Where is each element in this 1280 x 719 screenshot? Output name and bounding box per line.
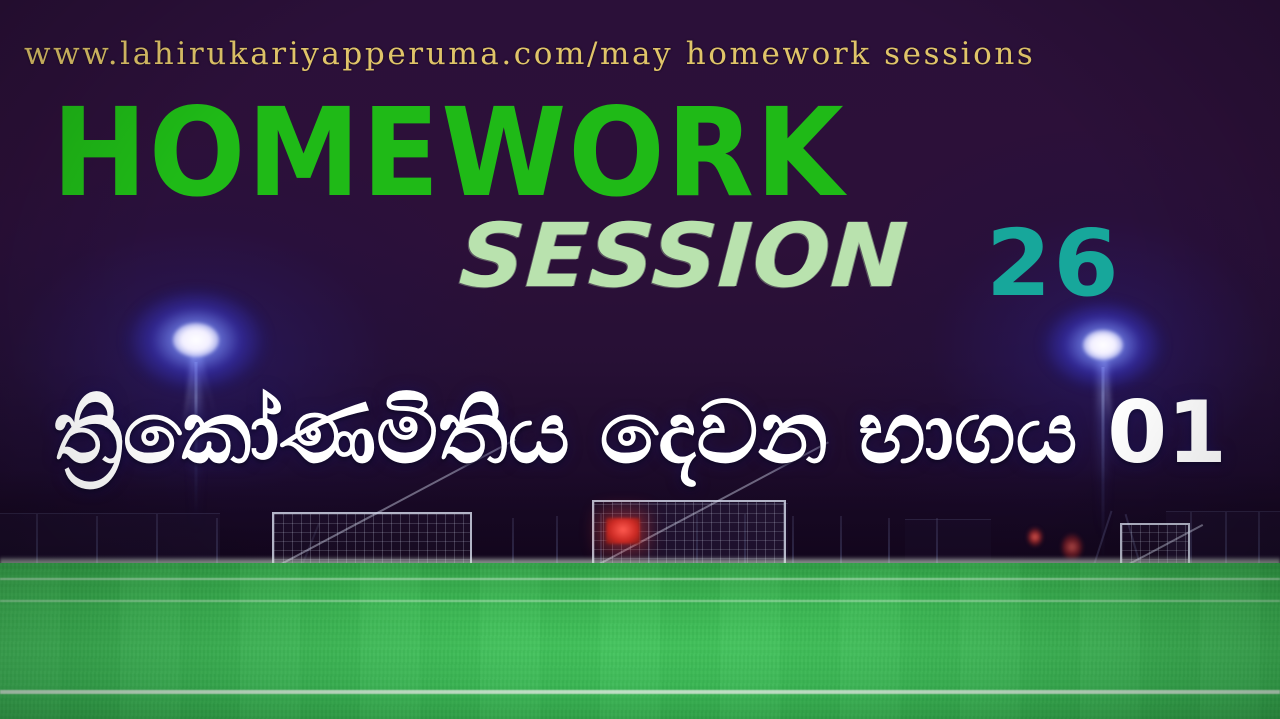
pitch-line-far bbox=[0, 578, 1280, 580]
red-scoreboard-sign bbox=[606, 518, 640, 544]
title-session: SESSION bbox=[457, 212, 910, 300]
subtitle-sinhala-text: ත්‍රිකෝණමිතිය දෙවන භාගය 01 bbox=[53, 385, 1227, 481]
homework-session-banner: www.lahirukariyapperuma.com/may homework… bbox=[0, 0, 1280, 719]
football-pitch bbox=[0, 563, 1280, 719]
title-homework: HOMEWORK bbox=[52, 92, 846, 214]
stand-right-2 bbox=[905, 519, 991, 560]
website-url-text: www.lahirukariyapperuma.com/may homework… bbox=[24, 36, 1035, 72]
session-number: 26 bbox=[986, 218, 1121, 310]
pitch-line-near bbox=[0, 690, 1280, 694]
subtitle-container: ත්‍රිකෝණමිතිය දෙවන භාගය 01 bbox=[0, 385, 1280, 481]
pitch-line-mid bbox=[0, 600, 1280, 602]
mow-stripes bbox=[0, 563, 1280, 719]
red-lamp-far-right bbox=[1028, 528, 1042, 546]
stand-left bbox=[0, 513, 220, 560]
